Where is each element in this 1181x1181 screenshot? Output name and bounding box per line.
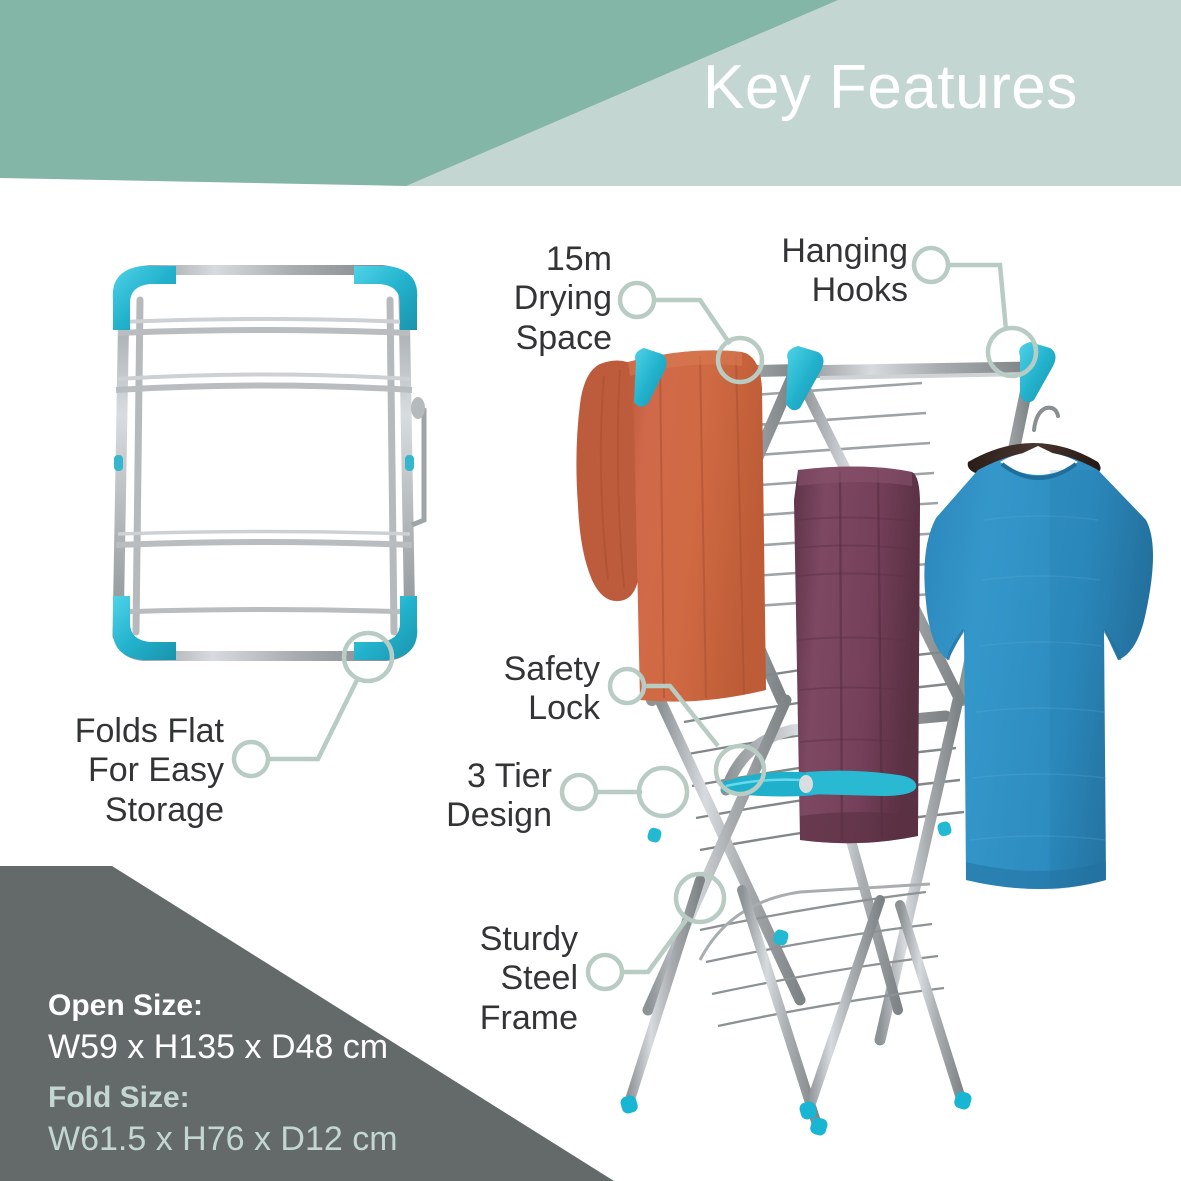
callout-dot-sturdy-frame — [588, 955, 622, 989]
fold-size-label: Fold Size: — [48, 1081, 190, 1115]
callout-dot-safety-lock — [610, 669, 644, 703]
callout-dot-drying-space — [620, 283, 654, 317]
callout-target-drying-space — [718, 338, 762, 382]
callout-target-sturdy-frame — [676, 874, 724, 922]
connector-sturdy-frame — [588, 874, 724, 989]
callout-label-three-tier: 3 Tier Design — [352, 757, 552, 836]
connector-safety-lock — [610, 669, 764, 794]
callout-target-safety-lock — [716, 746, 764, 794]
fold-size-value: W61.5 x H76 x D12 cm — [48, 1120, 398, 1158]
callout-dot-folds-flat — [234, 742, 268, 776]
callout-target-hanging-hooks — [988, 328, 1036, 376]
connector-three-tier — [562, 768, 687, 816]
infographic-page: Key Features 15m Drying Space Hanging Ho… — [0, 0, 1181, 1181]
open-size-label: Open Size: — [48, 989, 203, 1023]
connector-folds-flat — [234, 633, 392, 776]
open-size-value: W59 x H135 x D48 cm — [48, 1028, 388, 1066]
connector-hanging-hooks — [914, 248, 1036, 376]
callout-target-folds-flat — [344, 633, 392, 681]
callout-label-folds-flat: Folds Flat For Easy Storage — [50, 712, 224, 830]
callout-label-drying-space: 15m Drying Space — [440, 240, 612, 358]
callout-target-three-tier — [639, 768, 687, 816]
callout-dot-hanging-hooks — [914, 248, 948, 282]
callout-label-hanging-hooks: Hanging Hooks — [700, 232, 908, 311]
callout-label-sturdy-frame: Sturdy Steel Frame — [400, 920, 578, 1038]
callout-dot-three-tier — [562, 775, 596, 809]
callout-label-safety-lock: Safety Lock — [400, 650, 600, 729]
page-title: Key Features — [703, 57, 1078, 119]
